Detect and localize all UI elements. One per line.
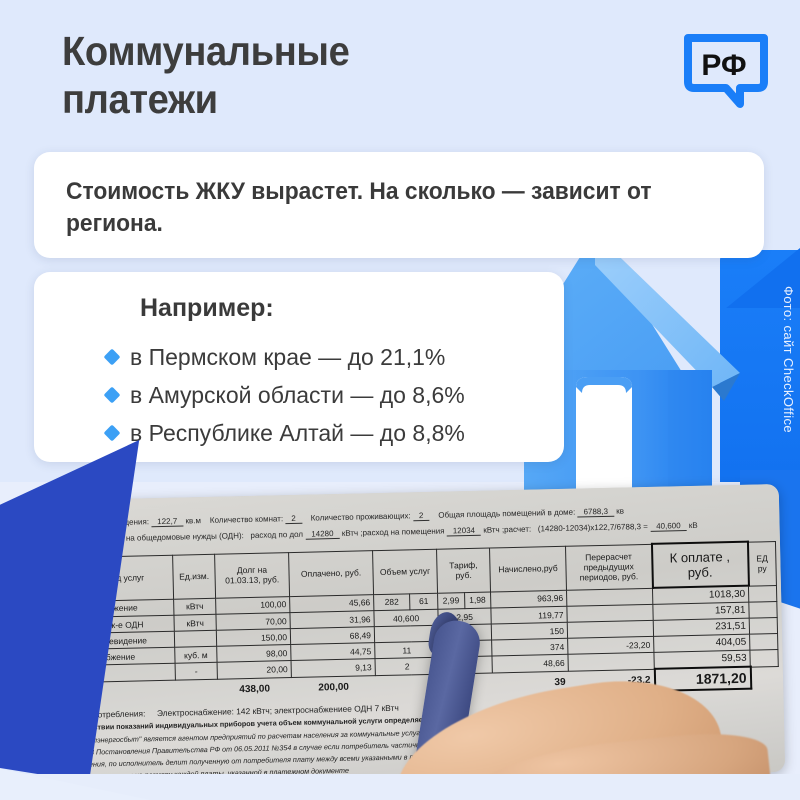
- cell-unit: кВтч: [174, 598, 216, 615]
- col-accrued: Начислено,руб: [490, 546, 567, 592]
- cell-extra: [749, 618, 777, 635]
- example-list: в Пермском крае — до 21,1% в Амурской об…: [106, 338, 554, 452]
- lede-card: Стоимость ЖКУ вырастет. На сколько — зав…: [34, 152, 764, 258]
- cell-recalc: [567, 604, 653, 622]
- cell-paid: 31,96: [290, 611, 374, 629]
- field-value-residents: 2: [413, 511, 430, 521]
- cell-debt: 150,00: [216, 629, 290, 647]
- field-unit-total-area: кв: [616, 506, 624, 515]
- photo-credit: Фото: сайт CheckOffice: [781, 286, 796, 433]
- total-paid: 200,00: [291, 675, 375, 699]
- cell-paid: 44,75: [291, 643, 375, 661]
- field-value-consumption-share: 14280: [305, 529, 339, 540]
- cell-debt: 98,00: [217, 645, 291, 663]
- diamond-bullet-icon: [104, 425, 121, 442]
- col-volume: Объем услуг: [373, 549, 438, 594]
- field-value-calc: 40,600: [650, 521, 687, 532]
- cell-volume-1: 40,600: [374, 609, 438, 626]
- field-value-rooms: 2: [285, 514, 302, 524]
- field-label-rooms: Количество комнат:: [210, 514, 283, 525]
- list-item-label: в Амурской области — до 8,6%: [130, 382, 465, 409]
- col-extra: ЕД ру: [747, 541, 776, 586]
- col-tariff: Тариф, руб.: [437, 548, 491, 593]
- field-unit-consumption-premises: кВтч: [483, 525, 500, 534]
- field-unit-consumption-share: кВтч: [342, 529, 359, 538]
- list-item-label: в Пермском крае — до 21,1%: [130, 344, 445, 371]
- col-recalc: Перерасчет предыдущих периодов, руб.: [565, 544, 652, 590]
- field-label-consumption-share: расход по дол: [250, 530, 303, 540]
- infographic-canvas: Коммунальные платежи РФ: [0, 0, 800, 800]
- cell-unit: кВтч: [174, 614, 216, 631]
- diamond-bullet-icon: [104, 349, 121, 366]
- cell-unit: [174, 630, 216, 647]
- cell-debt: 70,00: [216, 613, 290, 631]
- col-debt: Долг на 01.03.13, руб.: [215, 552, 290, 598]
- field-label-calc: ;расчет:: [502, 525, 531, 535]
- cell-recalc: [566, 588, 652, 606]
- field-label-total-area: Общая площадь помещений в доме:: [438, 508, 575, 520]
- total-blank: [175, 679, 217, 702]
- cell-debt: 20,00: [217, 661, 291, 679]
- page-title-line-1: Коммунальные: [62, 28, 490, 76]
- cell-volume-2: 61: [410, 593, 438, 610]
- field-value-area: 122,7: [151, 516, 183, 527]
- list-item: в Республике Алтай — до 8,8%: [106, 414, 554, 452]
- cell-recalc: [568, 652, 654, 670]
- field-unit-calc: кВ: [689, 521, 698, 530]
- cell-debt: 100,00: [216, 596, 290, 614]
- cell-paid: 68,49: [290, 627, 374, 645]
- total-blank: [750, 666, 778, 689]
- example-heading: Например:: [140, 294, 274, 323]
- cell-paid: 45,66: [290, 594, 374, 612]
- total-debt: 438,00: [217, 677, 291, 701]
- cell-extra: [749, 602, 777, 619]
- logo-text: РФ: [701, 49, 746, 82]
- cell-tariff-1: 2,99: [438, 592, 465, 609]
- field-label-residents: Количество проживающих:: [311, 511, 411, 522]
- list-item: в Амурской области — до 8,6%: [106, 376, 554, 414]
- lede-text: Стоимость ЖКУ вырастет. На сколько — зав…: [66, 176, 714, 239]
- cell-unit: -: [175, 662, 217, 679]
- field-value-consumption-premises: 12034: [447, 526, 481, 537]
- cell-tariff-2: 1,98: [464, 592, 491, 609]
- cell-extra: [748, 585, 776, 602]
- page-title-line-2: платежи: [62, 76, 490, 124]
- cell-paid: 9,13: [291, 659, 375, 677]
- diamond-bullet-icon: [104, 387, 121, 404]
- cell-extra: [750, 634, 778, 651]
- cell-accrued: 48,66: [492, 654, 568, 672]
- field-formula: (14280-12034)х122,7/6788,3 =: [538, 522, 648, 533]
- cell-accrued: 963,96: [491, 590, 567, 608]
- cell-accrued: 150: [491, 622, 567, 640]
- cell-volume-1: 282: [374, 593, 410, 610]
- example-card: Например: в Пермском крае — до 21,1% в А…: [34, 272, 564, 462]
- cell-unit: куб. м: [175, 646, 217, 663]
- page-title: Коммунальные платежи: [62, 28, 490, 123]
- list-item: в Пермском крае — до 21,1%: [106, 338, 554, 376]
- cell-recalc: -23,20: [568, 636, 654, 654]
- field-value-total-area: 6788,3: [577, 507, 614, 518]
- col-to-pay: К оплате , руб.: [651, 542, 748, 588]
- cell-extra: [750, 650, 778, 667]
- col-paid: Оплачено, руб.: [289, 550, 374, 596]
- col-unit: Ед.изм.: [173, 554, 216, 599]
- rf-speech-bubble-logo: РФ: [680, 30, 772, 116]
- field-unit-area: кв.м: [185, 516, 201, 525]
- cell-accrued: 119,77: [491, 606, 567, 624]
- cell-recalc: [567, 620, 653, 638]
- list-item-label: в Республике Алтай — до 8,8%: [130, 420, 465, 447]
- cell-accrued: 374: [492, 638, 568, 656]
- field-label-consumption-premises: ;расход на помещения: [360, 527, 444, 538]
